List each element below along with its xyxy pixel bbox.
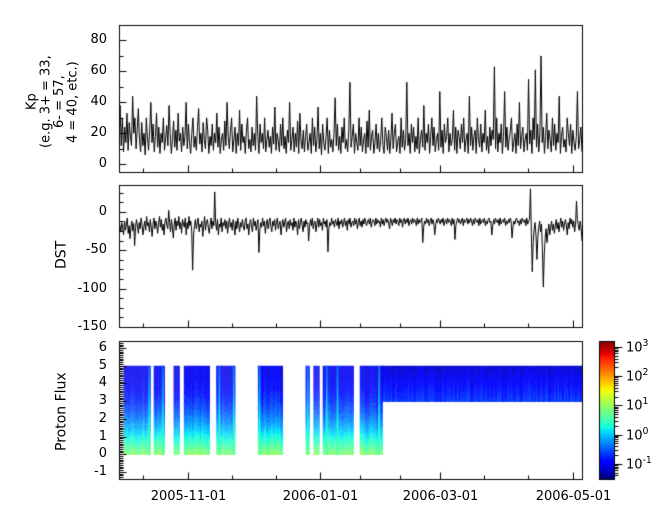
colorbar-tick-102: 102	[626, 367, 649, 384]
pf-ytick-6: 6	[0, 340, 107, 355]
colorbar-tick-100: 100	[626, 426, 649, 443]
pf-xtick-2005-11-01: 2005-11-01	[129, 489, 249, 504]
pf-ytick--1: -1	[0, 464, 107, 479]
pf-ytick-1: 1	[0, 429, 107, 444]
dst-ytick--150: -150	[0, 319, 107, 334]
pf-xtick-2006-01-01: 2006-01-01	[261, 489, 381, 504]
colorbar-tick-10-1: 10-1	[626, 455, 652, 472]
kp-ytick-80: 80	[0, 32, 107, 47]
colorbar-tick-103: 103	[626, 338, 649, 355]
pf-ytick-2: 2	[0, 411, 107, 426]
dst-ytick-0: 0	[0, 204, 107, 219]
pf-xtick-2006-05-01: 2006-05-01	[514, 489, 634, 504]
kp-ytick-20: 20	[0, 125, 107, 140]
dst-ytick--100: -100	[0, 281, 107, 296]
kp-ytick-40: 40	[0, 94, 107, 109]
pf-ytick-0: 0	[0, 446, 107, 461]
pf-ytick-5: 5	[0, 358, 107, 373]
colorbar-tick-101: 101	[626, 396, 649, 413]
figure-root: Kp (e.g. 3+ = 33, 6- = 57, 4 = 40, etc.)…	[0, 0, 665, 523]
kp-ytick-0: 0	[0, 156, 107, 171]
dst-ytick--50: -50	[0, 242, 107, 257]
pf-xtick-2006-03-01: 2006-03-01	[381, 489, 501, 504]
pf-ytick-4: 4	[0, 375, 107, 390]
kp-ytick-60: 60	[0, 63, 107, 78]
pf-ytick-3: 3	[0, 393, 107, 408]
